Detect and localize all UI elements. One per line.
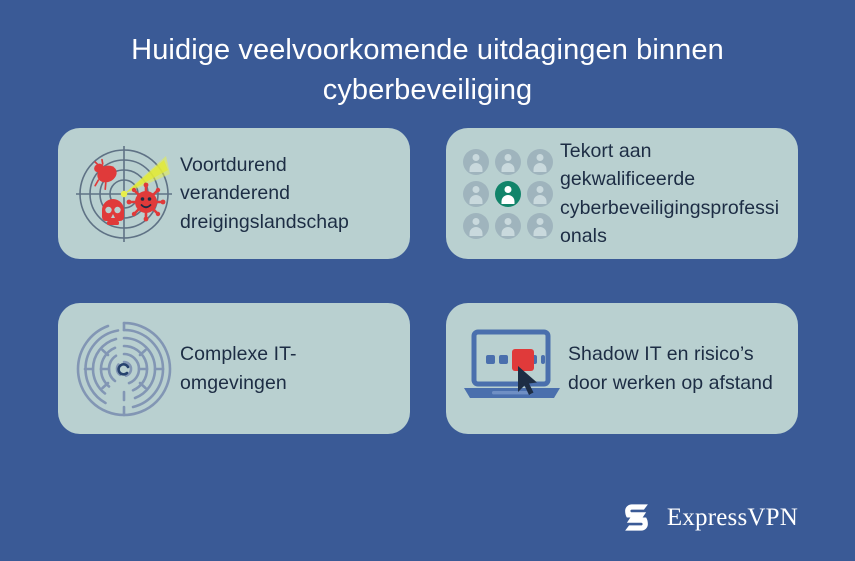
avatar	[527, 149, 553, 175]
challenge-card-label: Shadow IT en risico’s door werken op afs…	[566, 340, 784, 397]
avatar	[463, 149, 489, 175]
challenge-card-skills-shortage[interactable]: Tekort aan gekwalificeerde cyberbeveilig…	[446, 128, 798, 259]
avatar	[527, 181, 553, 207]
avatar	[495, 213, 521, 239]
challenge-card-label: Tekort aan gekwalificeerde cyberbeveilig…	[558, 137, 784, 251]
avatar	[463, 213, 489, 239]
expressvpn-logo: ExpressVPN	[619, 500, 798, 535]
avatar	[527, 213, 553, 239]
people-grid-icon	[458, 144, 558, 244]
expressvpn-wordmark: ExpressVPN	[667, 504, 798, 532]
challenge-card-label: Voortdurend veranderend dreigingslandsch…	[178, 151, 396, 237]
challenge-card-threat-landscape[interactable]: Voortdurend veranderend dreigingslandsch…	[58, 128, 410, 259]
avatar	[463, 181, 489, 207]
challenge-card-grid: Voortdurend veranderend dreigingslandsch…	[58, 128, 798, 434]
page-title: Huidige veelvoorkomende uitdagingen binn…	[60, 30, 795, 110]
infographic-root: Huidige veelvoorkomende uitdagingen binn…	[0, 0, 855, 561]
expressvpn-logo-icon	[619, 500, 654, 535]
laptop-cursor-icon	[458, 319, 566, 419]
avatar	[495, 149, 521, 175]
challenge-card-shadow-it[interactable]: Shadow IT en risico’s door werken op afs…	[446, 303, 798, 434]
radar-threats-icon	[70, 144, 178, 244]
avatar-highlighted	[495, 181, 521, 207]
challenge-card-complex-it[interactable]: Complexe IT-omgevingen	[58, 303, 410, 434]
challenge-card-label: Complexe IT-omgevingen	[178, 340, 396, 397]
maze-icon	[70, 319, 178, 419]
